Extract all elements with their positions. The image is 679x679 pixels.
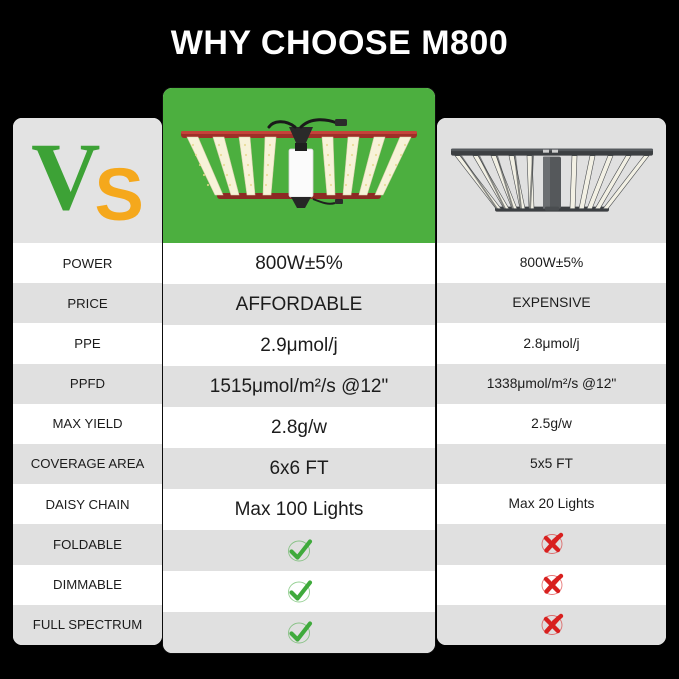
m800-product-panel xyxy=(163,88,435,243)
table-row: 2.9μmol/j xyxy=(163,325,435,366)
feature-label-cell: PPFD xyxy=(70,376,105,391)
feature-label-cell: POWER xyxy=(63,256,113,271)
competitor-value-cell: 5x5 FT xyxy=(530,456,573,472)
table-row: PPFD xyxy=(13,364,162,404)
table-row xyxy=(437,605,666,645)
table-row xyxy=(437,524,666,564)
table-row: PRICE xyxy=(13,283,162,323)
m800-value-cell: 6x6 FT xyxy=(269,458,328,480)
table-row: DIMMABLE xyxy=(13,565,162,605)
vs-letter-s: S xyxy=(94,158,143,232)
table-row: 6x6 FT xyxy=(163,448,435,489)
table-row: DAISY CHAIN xyxy=(13,484,162,524)
table-row xyxy=(163,612,435,653)
competitor-value-rows: 800W±5%EXPENSIVE2.8μmol/j1338μmol/m²/s @… xyxy=(437,243,666,645)
m800-value-cell: 2.9μmol/j xyxy=(260,335,337,357)
check-icon xyxy=(282,618,316,648)
competitor-product-panel xyxy=(437,118,666,243)
table-row: PPE xyxy=(13,323,162,363)
feature-label-cell: MAX YIELD xyxy=(52,416,122,431)
table-row: AFFORDABLE xyxy=(163,284,435,325)
table-row: FOLDABLE xyxy=(13,524,162,564)
competitor-value-cell: 2.8μmol/j xyxy=(523,336,579,352)
table-row: 1338μmol/m²/s @12" xyxy=(437,364,666,404)
m800-value-cell: 2.8g/w xyxy=(271,417,327,439)
page-title: WHY CHOOSE M800 xyxy=(0,22,679,64)
competitor-lamp-image xyxy=(449,140,655,224)
table-row: COVERAGE AREA xyxy=(13,444,162,484)
m800-value-rows: 800W±5%AFFORDABLE2.9μmol/j1515μmol/m²/s … xyxy=(163,243,435,653)
vs-logo: V S xyxy=(13,118,162,243)
cross-icon xyxy=(535,570,569,600)
feature-label-cell: COVERAGE AREA xyxy=(31,456,145,471)
m800-lamp-image xyxy=(177,115,421,217)
m800-value-cell: 800W±5% xyxy=(255,253,343,275)
competitor-column: 800W±5%EXPENSIVE2.8μmol/j1338μmol/m²/s @… xyxy=(437,118,666,645)
table-row: EXPENSIVE xyxy=(437,283,666,323)
table-row: Max 100 Lights xyxy=(163,489,435,530)
table-row: POWER xyxy=(13,243,162,283)
feature-label-cell: DIMMABLE xyxy=(53,577,122,592)
feature-label-cell: DAISY CHAIN xyxy=(45,497,129,512)
table-row xyxy=(163,530,435,571)
m800-value-cell: 1515μmol/m²/s @12" xyxy=(210,376,389,398)
feature-label-column: V S POWERPRICEPPEPPFDMAX YIELDCOVERAGE A… xyxy=(13,118,162,645)
cross-icon xyxy=(535,529,569,559)
table-row: MAX YIELD xyxy=(13,404,162,444)
vs-logo-panel: V S xyxy=(13,118,162,243)
m800-value-cell: AFFORDABLE xyxy=(236,294,363,316)
table-row xyxy=(437,565,666,605)
vs-letter-v: V xyxy=(31,129,100,225)
table-row xyxy=(163,571,435,612)
feature-label-rows: POWERPRICEPPEPPFDMAX YIELDCOVERAGE AREAD… xyxy=(13,243,162,645)
table-row: 2.8μmol/j xyxy=(437,323,666,363)
competitor-value-cell: 2.5g/w xyxy=(531,416,572,432)
competitor-value-cell: Max 20 Lights xyxy=(509,496,595,512)
table-row: 1515μmol/m²/s @12" xyxy=(163,366,435,407)
comparison-infographic: WHY CHOOSE M800 V S POWERPRICEPPEPPFDMAX… xyxy=(0,0,679,679)
table-row: 2.5g/w xyxy=(437,404,666,444)
m800-column: 800W±5%AFFORDABLE2.9μmol/j1515μmol/m²/s … xyxy=(163,88,435,653)
table-row: Max 20 Lights xyxy=(437,484,666,524)
cross-icon xyxy=(535,610,569,640)
competitor-value-cell: 1338μmol/m²/s @12" xyxy=(487,376,617,392)
table-row: 2.8g/w xyxy=(163,407,435,448)
feature-label-cell: FOLDABLE xyxy=(53,537,122,552)
competitor-value-cell: EXPENSIVE xyxy=(512,295,590,311)
feature-label-cell: FULL SPECTRUM xyxy=(33,617,142,632)
m800-value-cell: Max 100 Lights xyxy=(235,499,364,521)
feature-label-cell: PRICE xyxy=(67,296,107,311)
check-icon xyxy=(282,577,316,607)
competitor-value-cell: 800W±5% xyxy=(520,255,584,271)
table-row: FULL SPECTRUM xyxy=(13,605,162,645)
table-row: 800W±5% xyxy=(163,243,435,284)
feature-label-cell: PPE xyxy=(74,336,100,351)
check-icon xyxy=(282,536,316,566)
table-row: 800W±5% xyxy=(437,243,666,283)
table-row: 5x5 FT xyxy=(437,444,666,484)
